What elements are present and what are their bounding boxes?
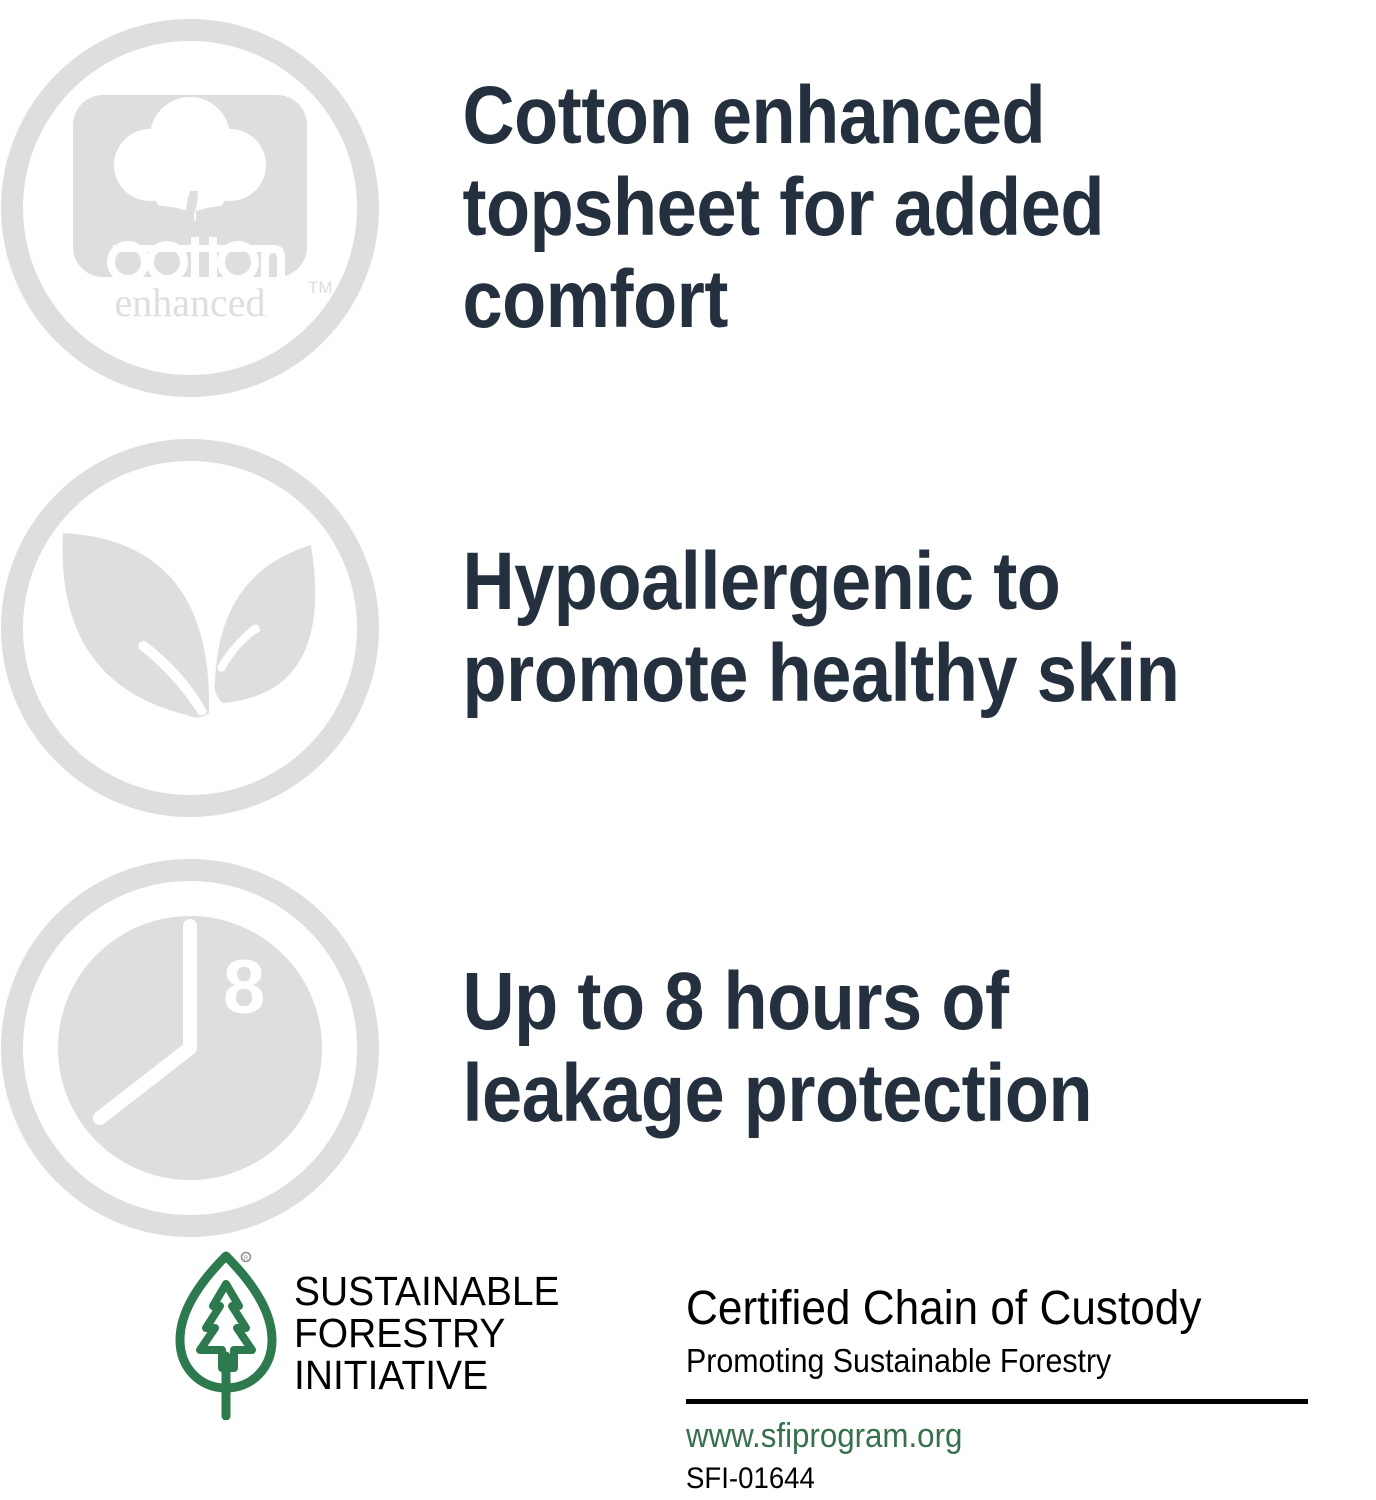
- sfi-wordmark-label: SUSTAINABLE FORESTRY INITIATIVE: [294, 1271, 560, 1396]
- sfi-certification-title: Certified Chain of Custody: [686, 1284, 1267, 1334]
- feature-text-leakage-protection: Up to 8 hours of leakage protection: [385, 956, 1101, 1140]
- feature-row-leakage-protection: 8 Up to 8 hours of leakage protection: [0, 848, 1376, 1248]
- sfi-logo-group: R SUSTAINABLE FORESTRY INITIATIVE: [172, 1248, 574, 1420]
- sfi-leaf-pine-tree-icon: R: [172, 1248, 280, 1420]
- cotton-enhanced-logo-icon: TM enhanced: [0, 13, 385, 403]
- sfi-details: Certified Chain of Custody Promoting Sus…: [686, 1284, 1318, 1497]
- sfi-program-url-link[interactable]: www.sfiprogram.org: [686, 1416, 1267, 1457]
- feature-row-cotton-enhanced: TM enhanced Cotton enhanced topsheet for…: [0, 8, 1376, 408]
- feature-text-cotton-enhanced: Cotton enhanced topsheet for added comfo…: [385, 70, 1113, 345]
- feature-row-hypoallergenic: Hypoallergenic to promote healthy skin: [0, 428, 1376, 828]
- sfi-divider: [686, 1399, 1308, 1404]
- cotton-enhanced-label: enhanced: [114, 280, 265, 325]
- clock-numeral-label: 8: [223, 945, 265, 1030]
- feature-text-hypoallergenic: Hypoallergenic to promote healthy skin: [385, 536, 1188, 720]
- sfi-registered-mark-label: R: [244, 1256, 249, 1262]
- sfi-certification-block: R SUSTAINABLE FORESTRY INITIATIVE Certif…: [0, 1240, 1376, 1500]
- sfi-certification-subtitle: Promoting Sustainable Forestry: [686, 1340, 1267, 1381]
- sfi-certificate-code: SFI-01644: [686, 1461, 1267, 1497]
- clock-8-hours-icon: 8: [0, 853, 385, 1243]
- two-leaves-icon: [0, 433, 385, 823]
- cotton-trademark-label: TM: [308, 278, 333, 297]
